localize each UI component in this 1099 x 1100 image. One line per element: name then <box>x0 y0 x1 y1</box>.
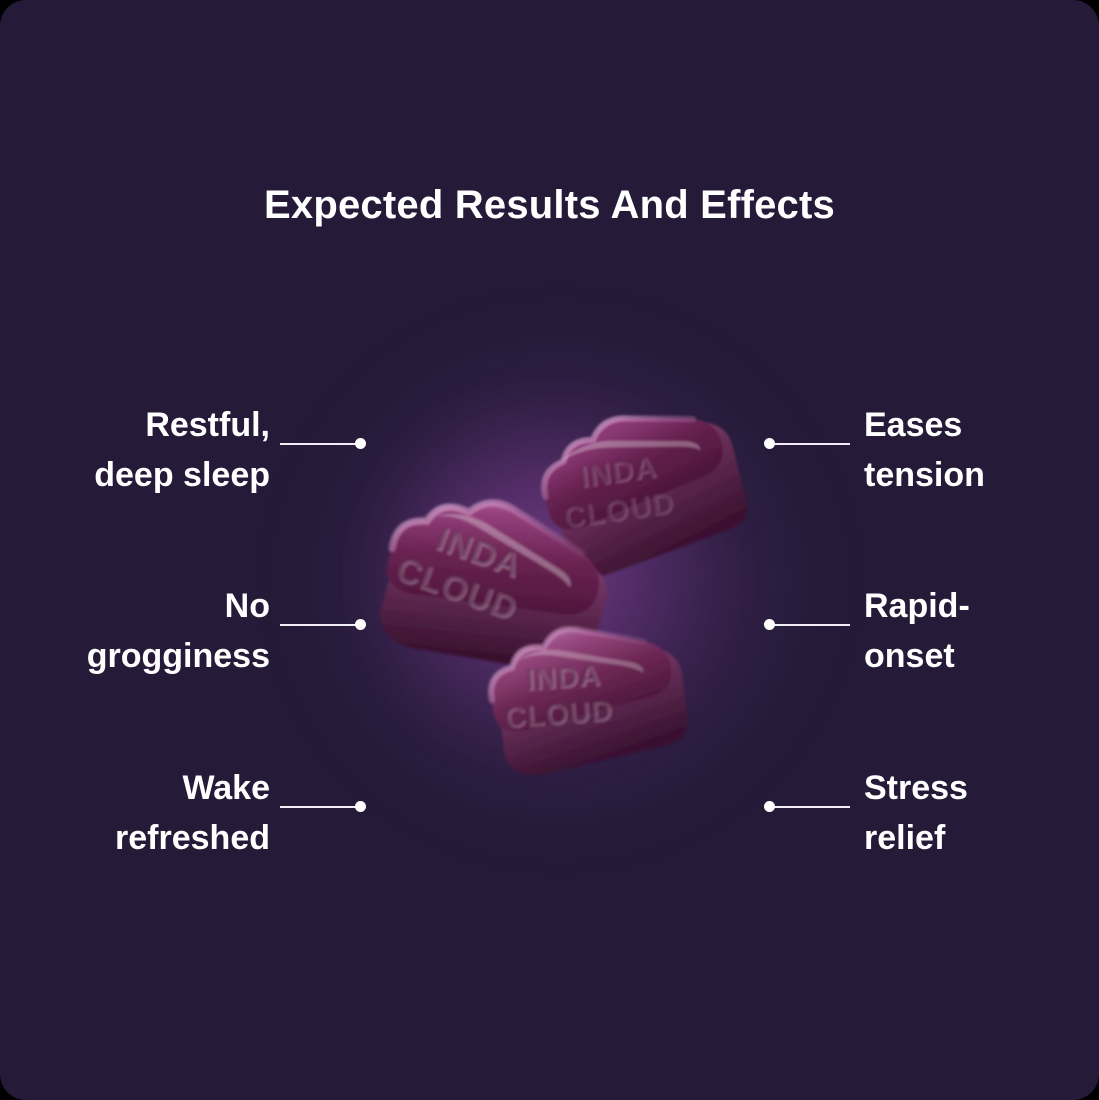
ambient-glow-inner <box>385 420 715 740</box>
svg-text:INDA: INDA <box>578 450 659 493</box>
connector-dot <box>764 801 775 812</box>
connector-dot <box>355 801 366 812</box>
callout-label-wake-refreshed: Wake refreshed <box>0 763 270 863</box>
connector-stress-relief <box>764 801 850 813</box>
svg-text:INDA: INDA <box>432 519 527 585</box>
svg-text:CLOUD: CLOUD <box>504 695 614 734</box>
svg-text:INDA: INDA <box>526 660 603 697</box>
callout-label-no-grogginess: No grogginess <box>0 581 270 681</box>
svg-text:CLOUD: CLOUD <box>561 486 676 534</box>
svg-text:CLOUD: CLOUD <box>392 551 523 630</box>
connector-rapid-onset <box>764 619 850 631</box>
connector-restful-deep-sleep <box>280 438 366 450</box>
callout-label-rapid-onset: Rapid- onset <box>864 581 1099 681</box>
gummy-top-right: INDA CLOUD INDA CLOUD <box>532 425 762 615</box>
svg-text:CLOUD: CLOUD <box>562 487 677 535</box>
infographic-card: Expected Results And Effects <box>0 0 1099 1100</box>
connector-line <box>774 806 850 808</box>
connector-line <box>280 806 356 808</box>
connector-dot <box>764 619 775 630</box>
connector-dot <box>355 619 366 630</box>
connector-dot <box>355 438 366 449</box>
connector-line <box>280 624 356 626</box>
callout-label-eases-tension: Eases tension <box>864 400 1099 500</box>
connector-line <box>280 443 356 445</box>
connector-eases-tension <box>764 438 850 450</box>
page-title: Expected Results And Effects <box>0 183 1099 228</box>
svg-text:CLOUD: CLOUD <box>505 696 615 735</box>
svg-text:INDA: INDA <box>579 451 660 494</box>
svg-text:INDA: INDA <box>432 521 527 587</box>
ambient-glow-outer <box>300 330 820 830</box>
svg-text:CLOUD: CLOUD <box>391 549 522 628</box>
svg-text:INDA: INDA <box>525 660 602 697</box>
gummy-bottom-center: INDA CLOUD INDA CLOUD <box>485 630 700 810</box>
connector-line <box>774 443 850 445</box>
connector-line <box>774 624 850 626</box>
callout-label-stress-relief: Stress relief <box>864 763 1099 863</box>
connector-dot <box>764 438 775 449</box>
gummy-center-left: INDA CLOUD INDA CLOUD <box>368 507 633 722</box>
connector-no-grogginess <box>280 619 366 631</box>
product-image-gummies: INDA CLOUD INDA CLOUD <box>370 415 760 815</box>
connector-wake-refreshed <box>280 801 366 813</box>
callout-label-restful-deep-sleep: Restful, deep sleep <box>0 400 270 500</box>
